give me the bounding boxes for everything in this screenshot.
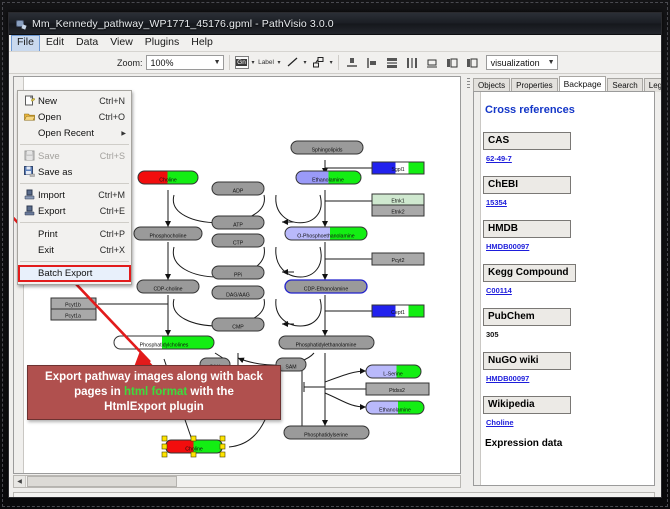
label-phosphatidylethanolamine: Phosphatidylethanolamine <box>296 343 357 349</box>
menubar: File Edit Data View Plugins Help <box>9 35 661 52</box>
xref-link-hmdb[interactable]: HMDB00097 <box>486 242 650 251</box>
toolbar-separator-2 <box>338 55 339 70</box>
tab-objects[interactable]: Objects <box>473 78 510 92</box>
toolbar: Zoom: 100% ▼ Gn ▾ Label ▾ ▾ <box>9 52 661 74</box>
xref-entry-chebi: ChEBI 15354 <box>483 174 650 207</box>
label-dag-aag: DAG/AAG <box>226 293 250 299</box>
open-folder-icon <box>20 111 38 124</box>
shape-tool-button[interactable] <box>310 54 327 71</box>
line-tool-button[interactable] <box>284 54 301 71</box>
label-phosphatidylcholines: Phosphatidylcholines <box>140 343 189 349</box>
xref-link-chebi[interactable]: 15354 <box>486 198 650 207</box>
statusbar-metabolite-db-label: Metabolite database: <box>210 495 289 499</box>
label-adp: ADP <box>233 189 244 195</box>
xref-link-nugo[interactable]: HMDB00097 <box>486 374 650 383</box>
order-icon[interactable] <box>444 54 461 71</box>
label-etnk2: Etnk2 <box>391 210 404 216</box>
file-menu-item-new[interactable]: New Ctrl+N <box>18 93 131 109</box>
file-menu-item-print[interactable]: Print Ctrl+P <box>18 226 131 242</box>
file-menu-separator-3 <box>20 222 129 223</box>
statusbar-gene-db-label: Gene database: <box>27 495 88 499</box>
save-as-icon <box>20 166 38 179</box>
file-menu-item-save: Save Ctrl+S <box>18 148 131 164</box>
label-dropdown-icon[interactable]: ▾ <box>278 59 281 66</box>
file-menu-item-exit[interactable]: Exit Ctrl+X <box>18 242 131 258</box>
file-menu-label-open-recent: Open Recent <box>38 128 121 139</box>
callout-line2-b: with the <box>187 386 234 398</box>
label-o-phosphoethanolamine: O-Phosphoethanolamine <box>297 234 355 240</box>
visualization-combo[interactable]: visualization ▼ <box>486 55 558 70</box>
file-menu-label-open: Open <box>38 112 99 123</box>
label-ethanolamine-top: Ethanolamine <box>312 178 344 184</box>
file-menu-label-import: Import <box>38 190 98 201</box>
callout-line2-a: pages in <box>74 386 124 398</box>
label-phosphocholine: Phosphocholine <box>150 234 187 240</box>
annotation-callout: Export pathway images along with back pa… <box>27 365 281 420</box>
xref-link-cas[interactable]: 62-49-7 <box>486 154 650 163</box>
file-menu-item-open-recent[interactable]: Open Recent ▶ <box>18 125 131 141</box>
label-sphingolipids: Sphingolipids <box>312 148 343 154</box>
label-cdp-ethanolamine: CDP-Ethanolamine <box>304 287 349 293</box>
xref-entry-wikipedia: Wikipedia Choline <box>483 394 650 427</box>
xref-link-kegg[interactable]: C00114 <box>486 286 650 295</box>
new-file-icon <box>20 95 38 108</box>
distribute-icon[interactable] <box>404 54 421 71</box>
shape-dropdown-icon[interactable]: ▾ <box>330 59 333 66</box>
line-dropdown-icon[interactable]: ▾ <box>304 59 307 66</box>
color-set-icon[interactable] <box>464 54 481 71</box>
tab-properties[interactable]: Properties <box>511 78 557 92</box>
menu-file[interactable]: File <box>11 35 40 51</box>
file-menu-item-export[interactable]: Export Ctrl+E <box>18 203 131 219</box>
zoom-label: Zoom: <box>117 58 143 68</box>
xref-entry-cas: CAS 62-49-7 <box>483 130 650 163</box>
statusbar-dataset-label: Dataset: <box>399 495 431 499</box>
file-menu-label-batch-export: Batch Export <box>22 268 129 279</box>
callout-line1: Export pathway images along with back <box>45 371 263 383</box>
xref-source-cas: CAS <box>483 132 571 150</box>
label-l-serine: L-Serine <box>383 372 403 378</box>
file-menu-label-new: New <box>38 96 99 107</box>
file-menu-label-export: Export <box>38 206 100 217</box>
window-title: Mm_Kennedy_pathway_WP1771_45176.gpml - P… <box>32 18 334 30</box>
cross-references-heading: Cross references <box>485 104 650 116</box>
export-icon <box>20 205 38 218</box>
label-cmp: CMP <box>232 325 244 331</box>
xref-entry-kegg: Kegg Compound C00114 <box>483 262 650 295</box>
align-top-icon[interactable] <box>344 54 361 71</box>
xref-source-chebi: ChEBI <box>483 176 571 194</box>
backpage-content: Cross references CAS 62-49-7 ChEBI 15354… <box>473 91 655 486</box>
side-panel: Objects Properties Backpage Search Legen… <box>465 76 657 488</box>
save-disk-icon <box>20 150 38 163</box>
label-cept1: Cept1 <box>391 310 405 316</box>
xref-value-pubchem: 305 <box>486 330 650 339</box>
file-menu-accel-open: Ctrl+O <box>99 112 131 122</box>
label-phosphatidylserine: Phosphatidylserine <box>304 433 348 439</box>
file-menu-separator-1 <box>20 144 129 145</box>
label-choline-selected: Choline <box>185 447 203 453</box>
group-icon[interactable] <box>424 54 441 71</box>
statusbar-metabolite-db-value: ...tabolites_111203.bridge <box>292 495 389 499</box>
xref-source-hmdb: HMDB <box>483 220 571 238</box>
align-left-icon[interactable] <box>364 54 381 71</box>
xref-source-wikipedia: Wikipedia <box>483 396 571 414</box>
label-pcyt1b: Pcyt1b <box>65 303 81 309</box>
file-menu-popup[interactable]: New Ctrl+N Open Ctrl+O Open Recent ▶ <box>17 90 132 285</box>
callout-line3: HtmlExport plugin <box>104 401 204 413</box>
align-stack-icon[interactable] <box>384 54 401 71</box>
toolbar-separator <box>229 55 230 70</box>
expression-data-heading: Expression data <box>485 438 650 449</box>
file-menu-accel-export: Ctrl+E <box>100 206 131 216</box>
scroll-thumb[interactable] <box>27 476 177 487</box>
statusbar: | Gene database: ...m_Derby_20120602.bri… <box>13 492 655 498</box>
file-menu-label-save: Save <box>38 151 100 162</box>
label-pcyt1a: Pcyt1a <box>65 314 81 320</box>
geneproduct-tool-button[interactable]: Gn <box>235 56 249 69</box>
label-sgpl1: Sgpl1 <box>391 167 404 173</box>
pathvisio-window: Mm_Kennedy_pathway_WP1771_45176.gpml - P… <box>8 12 662 498</box>
xref-entry-hmdb: HMDB HMDB00097 <box>483 218 650 251</box>
file-menu-label-exit: Exit <box>38 245 100 256</box>
file-menu-accel-exit: Ctrl+X <box>100 245 131 255</box>
zoom-value: 100% <box>151 58 174 68</box>
label-ethanolamine-bottom: Ethanolamine <box>379 408 411 414</box>
zoom-combo[interactable]: 100% ▼ <box>146 55 224 70</box>
menu-view[interactable]: View <box>104 35 139 51</box>
file-menu-item-open[interactable]: Open Ctrl+O <box>18 109 131 125</box>
tab-legend[interactable]: Legend <box>644 78 662 92</box>
panel-grip[interactable] <box>465 76 472 92</box>
tab-search[interactable]: Search <box>607 78 642 92</box>
file-menu-separator-2 <box>20 183 129 184</box>
file-menu-accel-print: Ctrl+P <box>100 229 131 239</box>
file-menu-item-save-as[interactable]: Save as <box>18 164 131 180</box>
label-etnk1: Etnk1 <box>391 199 404 205</box>
label-sam: SAM <box>285 365 296 371</box>
geneproduct-dropdown-icon[interactable]: ▾ <box>252 59 255 66</box>
xref-entry-pubchem: PubChem 305 <box>483 306 650 339</box>
screenshot-root: Mm_Kennedy_pathway_WP1771_45176.gpml - P… <box>0 0 670 509</box>
file-menu-item-import[interactable]: Import Ctrl+M <box>18 187 131 203</box>
xref-source-nugo: NuGO wiki <box>483 352 571 370</box>
backpage-left-strip <box>474 92 481 485</box>
file-menu-accel-save: Ctrl+S <box>100 151 131 161</box>
tab-backpage[interactable]: Backpage <box>559 76 607 92</box>
menu-help[interactable]: Help <box>185 35 219 51</box>
label-atp: ATP <box>233 223 243 229</box>
callout-line2-highlight: html format <box>124 386 187 398</box>
submenu-arrow-icon: ▶ <box>121 130 131 137</box>
statusbar-gene-db-value: ...m_Derby_20120602.bridge <box>90 495 200 499</box>
label-ptdss2: Ptdss2 <box>389 388 405 394</box>
menu-data[interactable]: Data <box>70 35 104 51</box>
label-tool-button[interactable]: Label <box>258 54 275 71</box>
xref-source-kegg: Kegg Compound <box>483 264 576 282</box>
file-menu-accel-new: Ctrl+N <box>99 96 131 106</box>
pathvisio-app-icon <box>14 17 27 30</box>
file-menu-label-save-as: Save as <box>38 167 125 178</box>
xref-link-wikipedia[interactable]: Choline <box>486 418 650 427</box>
file-menu-item-batch-export[interactable]: Batch Export <box>18 265 131 282</box>
visualization-value: visualization <box>491 58 540 68</box>
window-titlebar: Mm_Kennedy_pathway_WP1771_45176.gpml - P… <box>9 13 661 35</box>
statusbar-dataset-value: ...wnloads\trans-meta.pgex <box>433 495 535 499</box>
import-icon <box>20 189 38 202</box>
side-panel-tabs: Objects Properties Backpage Search Legen… <box>473 76 657 92</box>
chevron-down-icon: ▼ <box>214 59 221 66</box>
label-pcyt2: Pcyt2 <box>392 258 405 264</box>
scroll-left-icon[interactable]: ◀ <box>14 476 26 487</box>
xref-source-pubchem: PubChem <box>483 308 571 326</box>
label-cdp-choline: CDP-choline <box>153 287 182 293</box>
label-choline-top: Choline <box>159 178 177 184</box>
menu-edit[interactable]: Edit <box>40 35 70 51</box>
canvas-hscrollbar[interactable]: ◀ <box>13 475 461 488</box>
chevron-down-icon-2: ▼ <box>548 59 555 66</box>
file-menu-label-print: Print <box>38 229 100 240</box>
label-ppi: PPi <box>234 273 242 279</box>
xref-entry-nugo: NuGO wiki HMDB00097 <box>483 350 650 383</box>
file-menu-accel-import: Ctrl+M <box>98 190 131 200</box>
file-menu-separator-4 <box>20 261 129 262</box>
label-ctp: CTP <box>233 241 244 247</box>
menu-plugins[interactable]: Plugins <box>139 35 185 51</box>
